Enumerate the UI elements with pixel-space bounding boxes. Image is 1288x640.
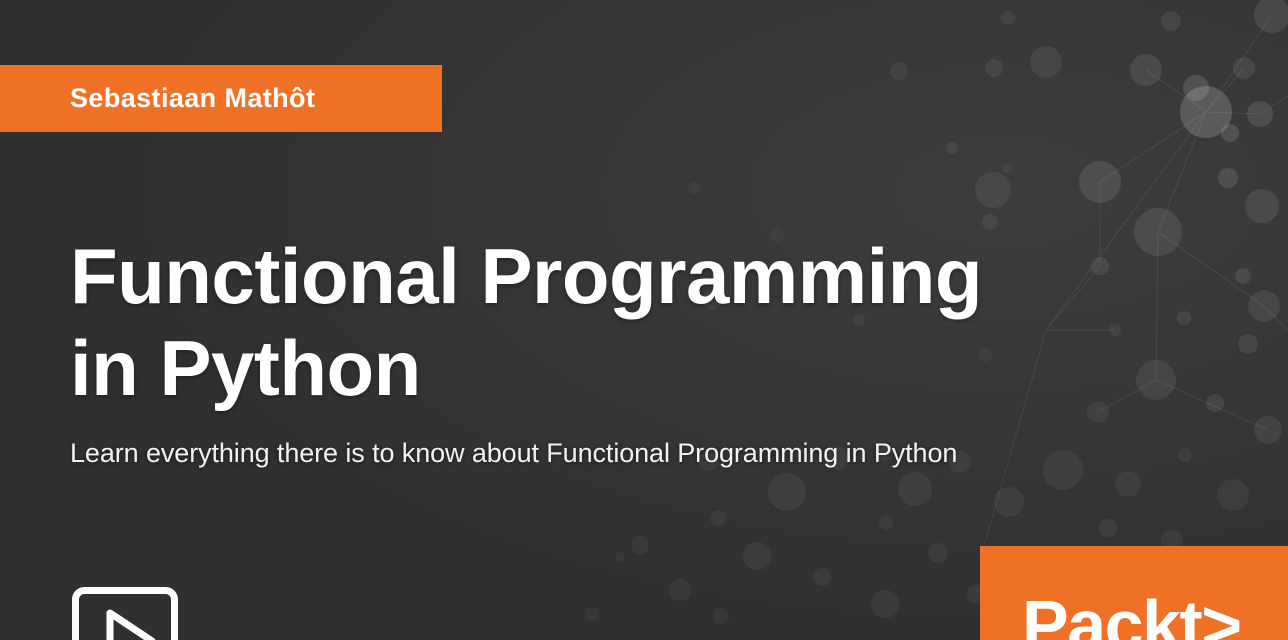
page-title: Functional Programming in Python (70, 230, 1190, 414)
play-video-icon (72, 587, 178, 640)
author-name: Sebastiaan Mathôt (70, 83, 315, 114)
packt-wordmark: Packt> (1022, 590, 1241, 640)
course-subtitle: Learn everything there is to know about … (70, 438, 957, 469)
course-title-slide: Sebastiaan Mathôt Functional Programming… (0, 0, 1288, 640)
author-name-band: Sebastiaan Mathôt (0, 65, 442, 132)
packt-brand-block: Packt> (980, 546, 1288, 640)
play-badge-frame (76, 591, 175, 640)
play-triangle-icon (110, 613, 152, 640)
